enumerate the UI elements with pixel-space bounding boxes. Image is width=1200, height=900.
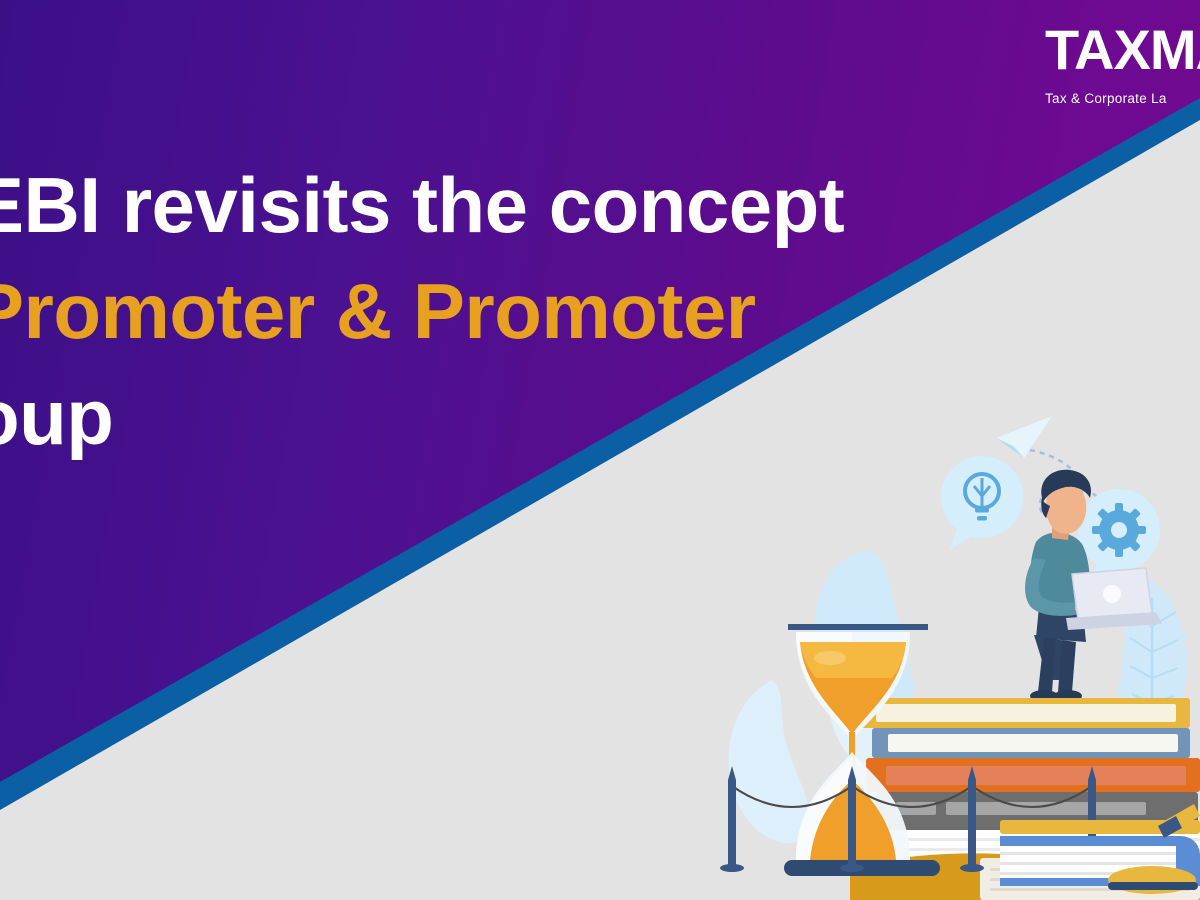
headline-line-1: EBI revisits the concept	[0, 152, 1062, 258]
laptop	[1066, 568, 1162, 630]
promotional-banner: TAXMA Tax & Corporate La EBI revisits th…	[0, 0, 1200, 900]
hero-illustration	[700, 380, 1200, 900]
lightbulb-bubble-icon	[941, 456, 1023, 550]
headline-line-2: Promoter & Promoter	[0, 258, 1062, 364]
